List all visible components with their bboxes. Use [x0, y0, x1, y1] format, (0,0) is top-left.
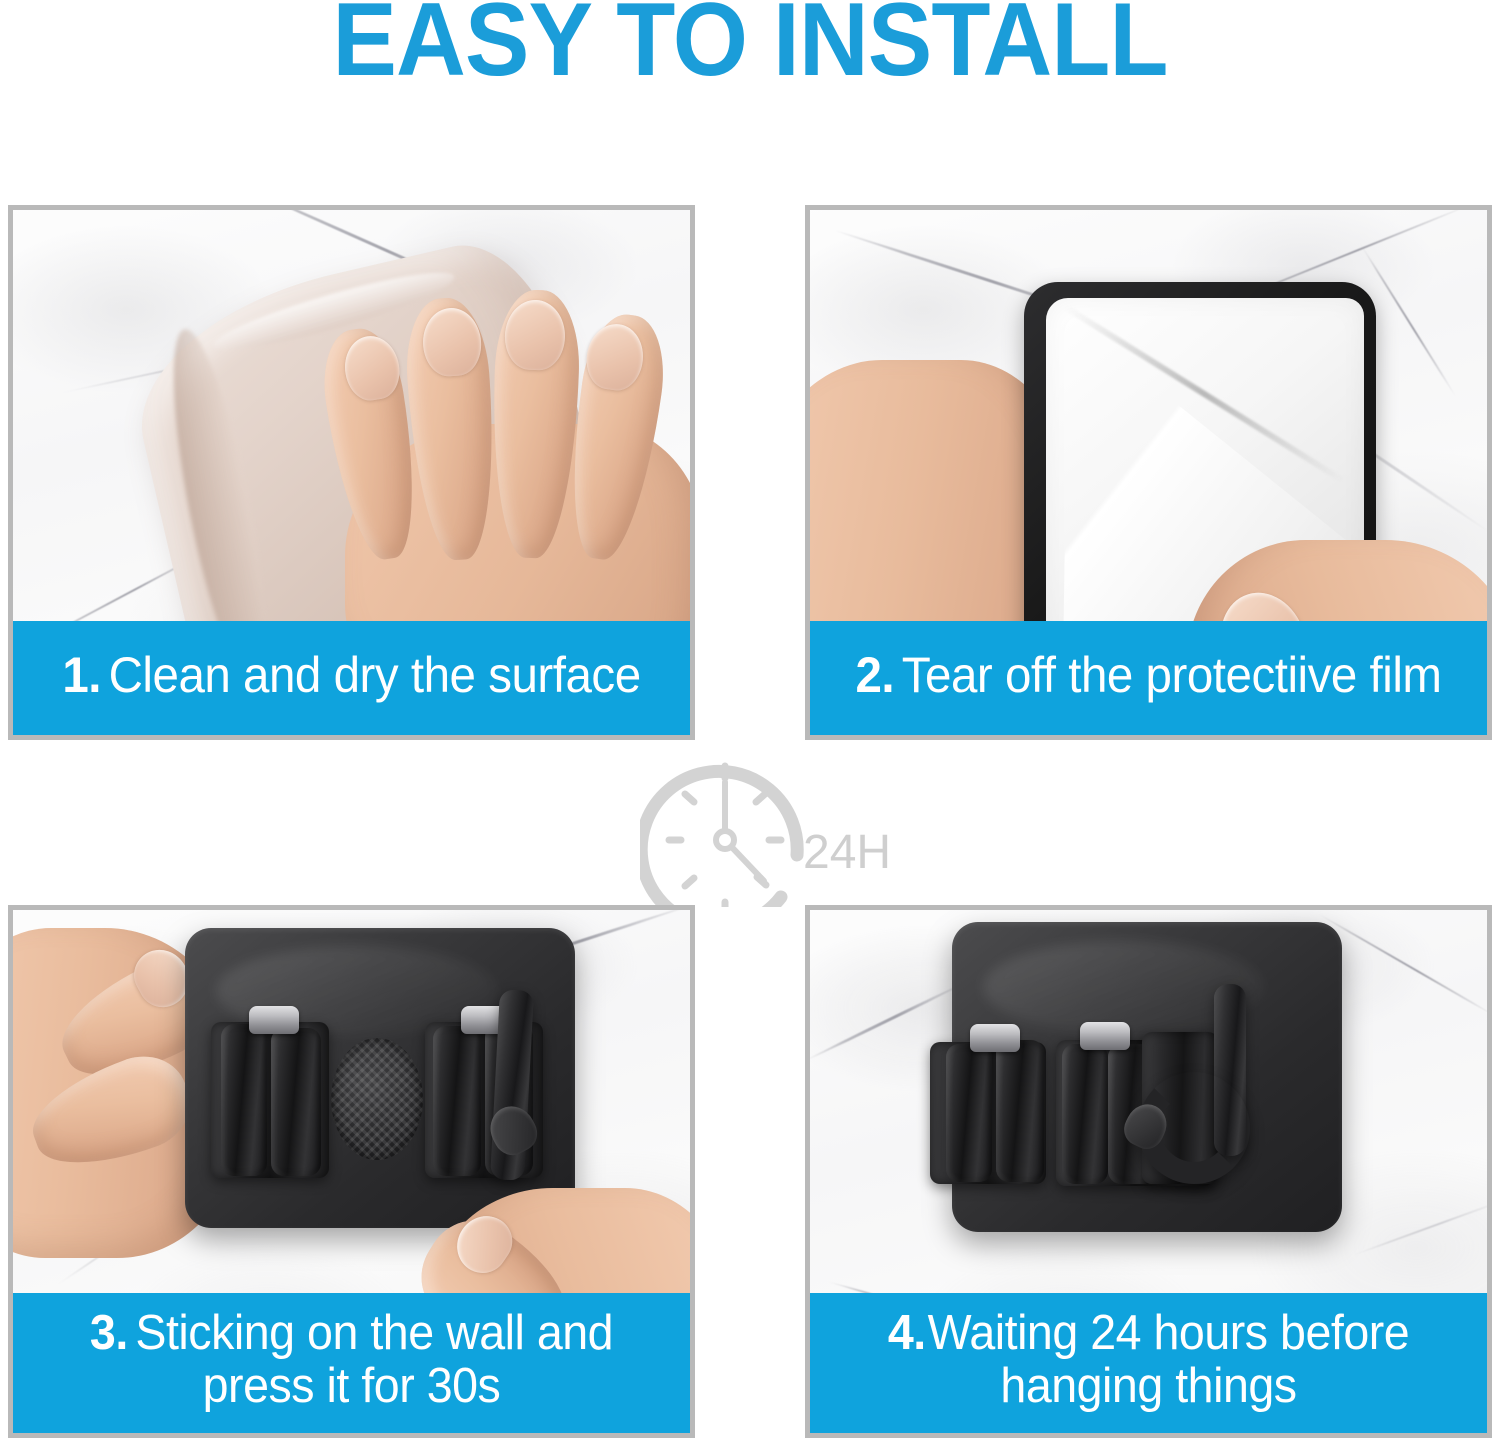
- step-1-number: 1.: [62, 647, 101, 703]
- step-4-text-1: Waiting 24 hours before: [928, 1306, 1410, 1360]
- step-1-line-1: 1.Clean and dry the surface: [47, 648, 656, 702]
- clock-label: 24H: [803, 826, 890, 879]
- step-3-caption: 3.Sticking on the wall and press it for …: [13, 1293, 690, 1433]
- step-panel-1: 1.Clean and dry the surface: [8, 205, 695, 740]
- screw-left: [970, 1024, 1020, 1052]
- step-1-text: Clean and dry the surface: [109, 647, 641, 703]
- step-4-number: 4.: [888, 1306, 926, 1360]
- step-4-line-2: hanging things: [844, 1360, 1453, 1413]
- step-2-line-1: 2.Tear off the protectiive film: [844, 648, 1453, 702]
- grip-pad: [331, 1038, 423, 1160]
- step-panel-4: 4.Waiting 24 hours before hanging things: [805, 905, 1492, 1438]
- step-panel-3: 3.Sticking on the wall and press it for …: [8, 905, 695, 1438]
- step-3-line-2: press it for 30s: [47, 1360, 656, 1413]
- mop-holder-mount-installed: [952, 922, 1342, 1232]
- roller-left-a: [221, 1024, 267, 1176]
- step-2-number: 2.: [855, 647, 894, 703]
- roller-right-a: [433, 1026, 481, 1176]
- roller-left-b: [271, 1028, 321, 1176]
- step-4-caption: 4.Waiting 24 hours before hanging things: [810, 1293, 1487, 1433]
- page-title: EASY TO INSTALL: [53, 0, 1448, 95]
- clock-24h-icon: 24H: [640, 742, 890, 907]
- step-3-text-1: Sticking on the wall and: [135, 1306, 613, 1360]
- step-panel-2: 2.Tear off the protectiive film: [805, 205, 1492, 740]
- step-3-line-1: 3.Sticking on the wall and: [47, 1307, 656, 1360]
- roller-left-b: [996, 1040, 1044, 1182]
- roller-right-a: [1062, 1044, 1108, 1184]
- screw-left: [249, 1006, 299, 1034]
- roller-left-a: [946, 1044, 992, 1182]
- step-3-number: 3.: [90, 1306, 128, 1360]
- step-1-caption: 1.Clean and dry the surface: [13, 621, 690, 735]
- screw-right: [1080, 1022, 1130, 1050]
- step-2-caption: 2.Tear off the protectiive film: [810, 621, 1487, 735]
- step-2-text: Tear off the protectiive film: [902, 647, 1442, 703]
- step-4-line-1: 4.Waiting 24 hours before: [844, 1307, 1453, 1360]
